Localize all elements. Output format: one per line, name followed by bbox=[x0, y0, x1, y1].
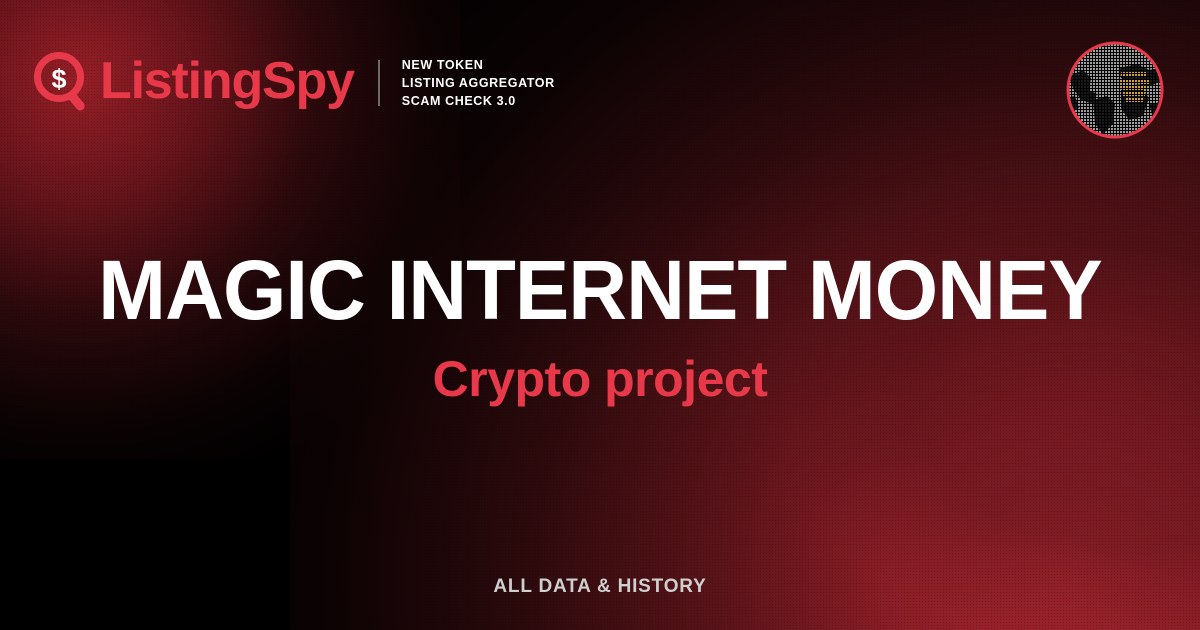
hero-block: MAGIC INTERNET MONEY Crypto project bbox=[0, 248, 1200, 404]
dot-matrix-globe-icon bbox=[1063, 38, 1167, 142]
promo-banner: $ ListingSpy NEW TOKEN LISTING AGGREGATO… bbox=[0, 0, 1200, 630]
page-title: MAGIC INTERNET MONEY bbox=[18, 248, 1182, 332]
footer-caption: ALL DATA & HISTORY bbox=[0, 576, 1200, 598]
svg-text:$: $ bbox=[51, 64, 66, 94]
tagline-line-2: LISTING AGGREGATOR bbox=[402, 74, 555, 92]
page-subtitle: Crypto project bbox=[0, 354, 1200, 404]
brand-tagline: NEW TOKEN LISTING AGGREGATOR SCAM CHECK … bbox=[402, 56, 555, 110]
brand-wordmark: ListingSpy bbox=[100, 55, 354, 111]
tagline-line-3: SCAM CHECK 3.0 bbox=[402, 92, 555, 110]
brand-header: $ ListingSpy NEW TOKEN LISTING AGGREGATO… bbox=[34, 52, 555, 114]
tagline-line-1: NEW TOKEN bbox=[402, 56, 555, 74]
header-divider bbox=[378, 60, 380, 106]
dollar-magnifier-icon: $ bbox=[34, 52, 92, 114]
